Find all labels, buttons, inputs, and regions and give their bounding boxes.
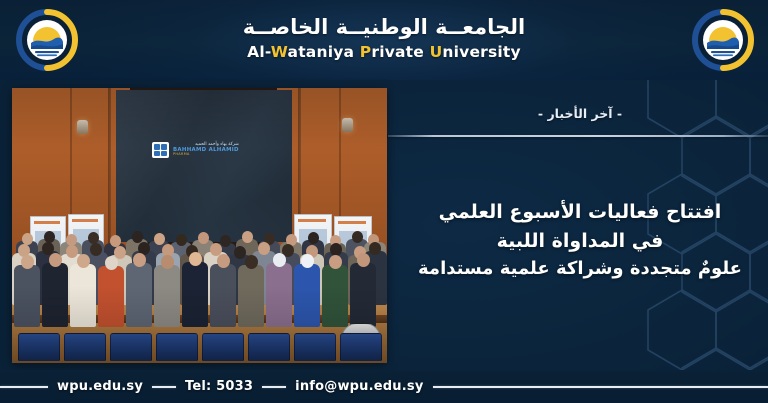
footer-email[interactable]: info@wpu.edu.sy: [286, 379, 432, 394]
university-logo-left: [16, 9, 78, 71]
latest-news-kicker: - آخر الأخبار -: [392, 106, 768, 121]
footer-rule-right: [433, 386, 768, 388]
university-name-english: Al-Wataniya Private University: [0, 43, 768, 61]
headline-line-3: علومٌ متجددة وشراكة علمية مستدامة: [392, 255, 768, 282]
headline-line-1: افتتاح فعاليات الأسبوع العلمي: [392, 198, 768, 227]
panel-divider: [388, 135, 768, 137]
university-name-arabic: الجامعــة الوطنيــة الخاصــة: [0, 14, 768, 40]
footer-rule-middle-2: [262, 386, 286, 388]
news-photo: شركة بهاء وأحمد الحميد BAHHAMD ALHAMID P…: [12, 88, 387, 363]
footer-website[interactable]: wpu.edu.sy: [48, 379, 152, 394]
university-branding: الجامعــة الوطنيــة الخاصــة Al-Wataniya…: [0, 14, 768, 61]
footer-rule-middle-1: [152, 386, 176, 388]
news-poster: الجامعــة الوطنيــة الخاصــة Al-Wataniya…: [0, 0, 768, 403]
poster-footer: wpu.edu.sy Tel: 5033 info@wpu.edu.sy: [0, 370, 768, 403]
poster-header: الجامعــة الوطنيــة الخاصــة Al-Wataniya…: [0, 0, 768, 80]
news-text-panel: - آخر الأخبار - افتتاح فعاليات الأسبوع ا…: [392, 80, 768, 370]
university-logo-right: [692, 9, 754, 71]
footer-rule-left: [0, 386, 48, 388]
headline-line-2: في المداواة اللبية: [392, 227, 768, 256]
news-headline: افتتاح فعاليات الأسبوع العلمي في المداوا…: [392, 198, 768, 282]
footer-phone[interactable]: Tel: 5033: [176, 379, 262, 394]
